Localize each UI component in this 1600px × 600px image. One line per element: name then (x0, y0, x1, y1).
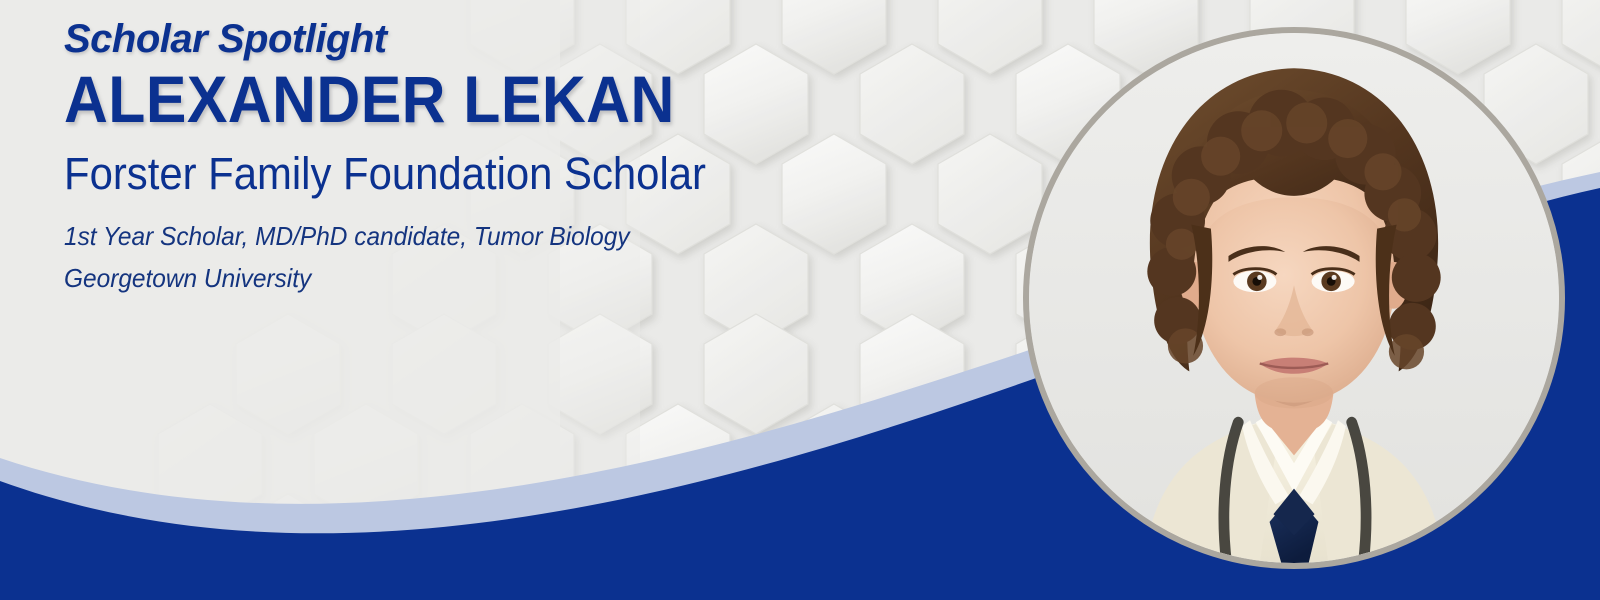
eyebrow-label: Scholar Spotlight (64, 18, 754, 60)
award-title: Forster Family Foundation Scholar (64, 149, 706, 199)
scholar-meta: 1st Year Scholar, MD/PhD candidate, Tumo… (64, 215, 713, 299)
avatar (1023, 27, 1565, 569)
meta-line-program: 1st Year Scholar, MD/PhD candidate, Tumo… (64, 215, 713, 257)
scholar-name: ALEXANDER LEKAN (64, 64, 699, 135)
portrait-avatar-icon (1029, 33, 1559, 563)
meta-line-institution: Georgetown University (64, 257, 713, 299)
scholar-spotlight-banner: Scholar Spotlight ALEXANDER LEKAN Forste… (0, 0, 1600, 600)
banner-text-block: Scholar Spotlight ALEXANDER LEKAN Forste… (64, 18, 754, 299)
